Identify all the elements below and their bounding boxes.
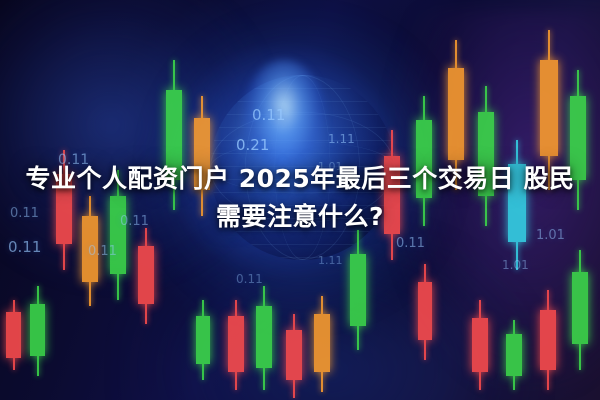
candle-body	[6, 312, 21, 358]
candle-body	[540, 60, 558, 156]
candle-body	[448, 68, 464, 160]
candle-22	[506, 320, 522, 390]
candle-body	[138, 246, 154, 304]
candle-body	[350, 254, 366, 326]
headline: 专业个人配资门户 2025年最后三个交易日 股民 需要注意什么?	[0, 160, 600, 236]
candle-12	[314, 296, 330, 392]
candle-13	[350, 230, 366, 350]
candle-23	[540, 290, 556, 390]
floating-number: 1.11	[318, 254, 343, 267]
candle-21	[472, 300, 488, 390]
floating-number: 0.11	[252, 106, 285, 124]
candle-09	[228, 300, 244, 390]
candle-body	[472, 318, 488, 372]
candle-body	[196, 316, 210, 364]
floating-number: 1.01	[502, 258, 529, 272]
floating-number: 1.11	[328, 132, 355, 146]
candle-26	[418, 264, 432, 360]
candle-body	[418, 282, 432, 340]
article-cover-image: 0.110.211.110.111.010.110.110.110.110.11…	[0, 0, 600, 400]
candle-body	[30, 304, 45, 356]
candle-body	[314, 314, 330, 372]
candle-02	[30, 286, 45, 376]
floating-number: 0.11	[8, 238, 41, 256]
floating-number: 0.11	[236, 272, 263, 286]
candle-24	[572, 250, 588, 370]
candle-01	[6, 300, 21, 370]
candle-body	[286, 330, 302, 380]
headline-line-1: 专业个人配资门户 2025年最后三个交易日 股民	[18, 160, 582, 198]
candle-11	[286, 314, 302, 398]
floating-number: 0.21	[236, 136, 269, 154]
candle-body	[572, 272, 588, 344]
candle-body	[540, 310, 556, 370]
candle-10	[256, 286, 272, 390]
candle-06	[138, 228, 154, 324]
headline-line-2: 需要注意什么?	[18, 198, 582, 236]
floating-number: 0.11	[396, 236, 425, 251]
candle-body	[506, 334, 522, 376]
floating-number: 0.11	[88, 244, 117, 259]
candle-body	[256, 306, 272, 368]
candle-body	[228, 316, 244, 372]
candle-25	[196, 300, 210, 380]
